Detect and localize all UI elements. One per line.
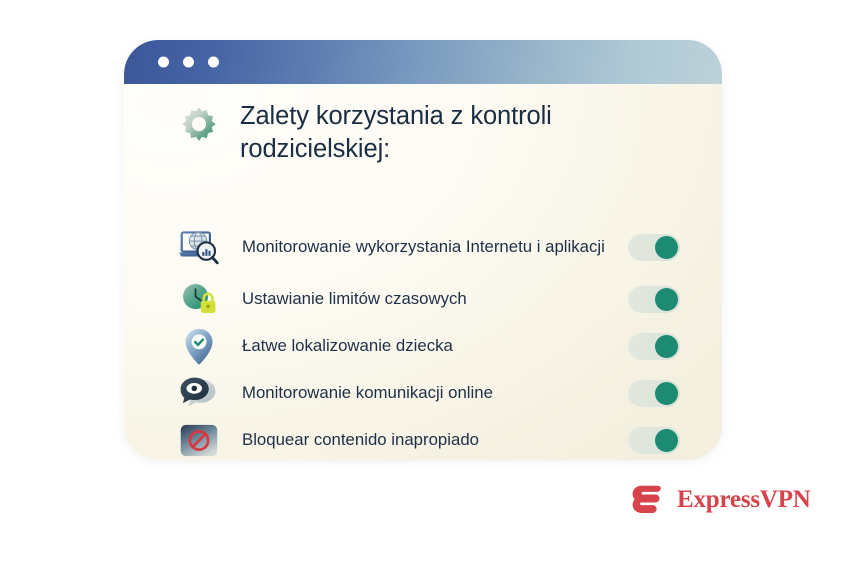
app-window: Zalety korzystania z kontroli rodziciels… (124, 40, 722, 460)
toggle-knob (655, 335, 678, 358)
blocked-content-icon (176, 420, 222, 461)
window-dot-maximize-icon[interactable] (208, 57, 219, 68)
toggle-knob (655, 429, 678, 452)
toggle-knob (655, 236, 678, 259)
list-item[interactable]: Ustawianie limitów czasowych (176, 276, 680, 323)
list-item-label: Monitorowanie komunikacji online (222, 382, 614, 405)
list-item[interactable]: Monitorowanie komunikacji online (176, 370, 680, 417)
expressvpn-logo: ExpressVPN (632, 484, 811, 516)
list-item[interactable]: Łatwe lokalizowanie dziecka (176, 323, 680, 370)
window-body: Zalety korzystania z kontroli rodziciels… (124, 84, 722, 460)
window-controls (158, 57, 219, 68)
list-item[interactable]: Bloquear contenido inapropiado (176, 417, 680, 460)
window-titlebar (124, 40, 722, 84)
toggle-switch[interactable] (628, 286, 680, 313)
list-item-label: Bloquear contenido inapropiado (222, 429, 614, 452)
screenshot-root: Zalety korzystania z kontroli rodziciels… (0, 0, 855, 561)
toggle-switch[interactable] (628, 380, 680, 407)
list-item[interactable]: Monitorowanie wykorzystania Internetu i … (176, 218, 680, 276)
location-pin-check-icon (176, 326, 222, 368)
window-dot-close-icon[interactable] (158, 57, 169, 68)
list-item-label: Monitorowanie wykorzystania Internetu i … (222, 236, 614, 259)
clock-lock-icon (176, 279, 222, 321)
expressvpn-wordmark: ExpressVPN (677, 486, 811, 514)
heading-row: Zalety korzystania z kontroli rodziciels… (176, 100, 696, 166)
list-item-label: Łatwe lokalizowanie dziecka (222, 335, 614, 358)
feature-list: Monitorowanie wykorzystania Internetu i … (176, 218, 680, 460)
page-title: Zalety korzystania z kontroli rodziciels… (240, 100, 640, 166)
gear-icon (176, 104, 222, 150)
chat-bubble-eye-icon (176, 373, 222, 415)
toggle-switch[interactable] (628, 333, 680, 360)
window-dot-minimize-icon[interactable] (183, 57, 194, 68)
expressvpn-logo-icon (632, 484, 666, 516)
toggle-switch[interactable] (628, 234, 680, 261)
toggle-switch[interactable] (628, 427, 680, 454)
list-item-label: Ustawianie limitów czasowych (222, 288, 614, 311)
toggle-knob (655, 288, 678, 311)
laptop-globe-search-icon (176, 226, 222, 268)
toggle-knob (655, 382, 678, 405)
